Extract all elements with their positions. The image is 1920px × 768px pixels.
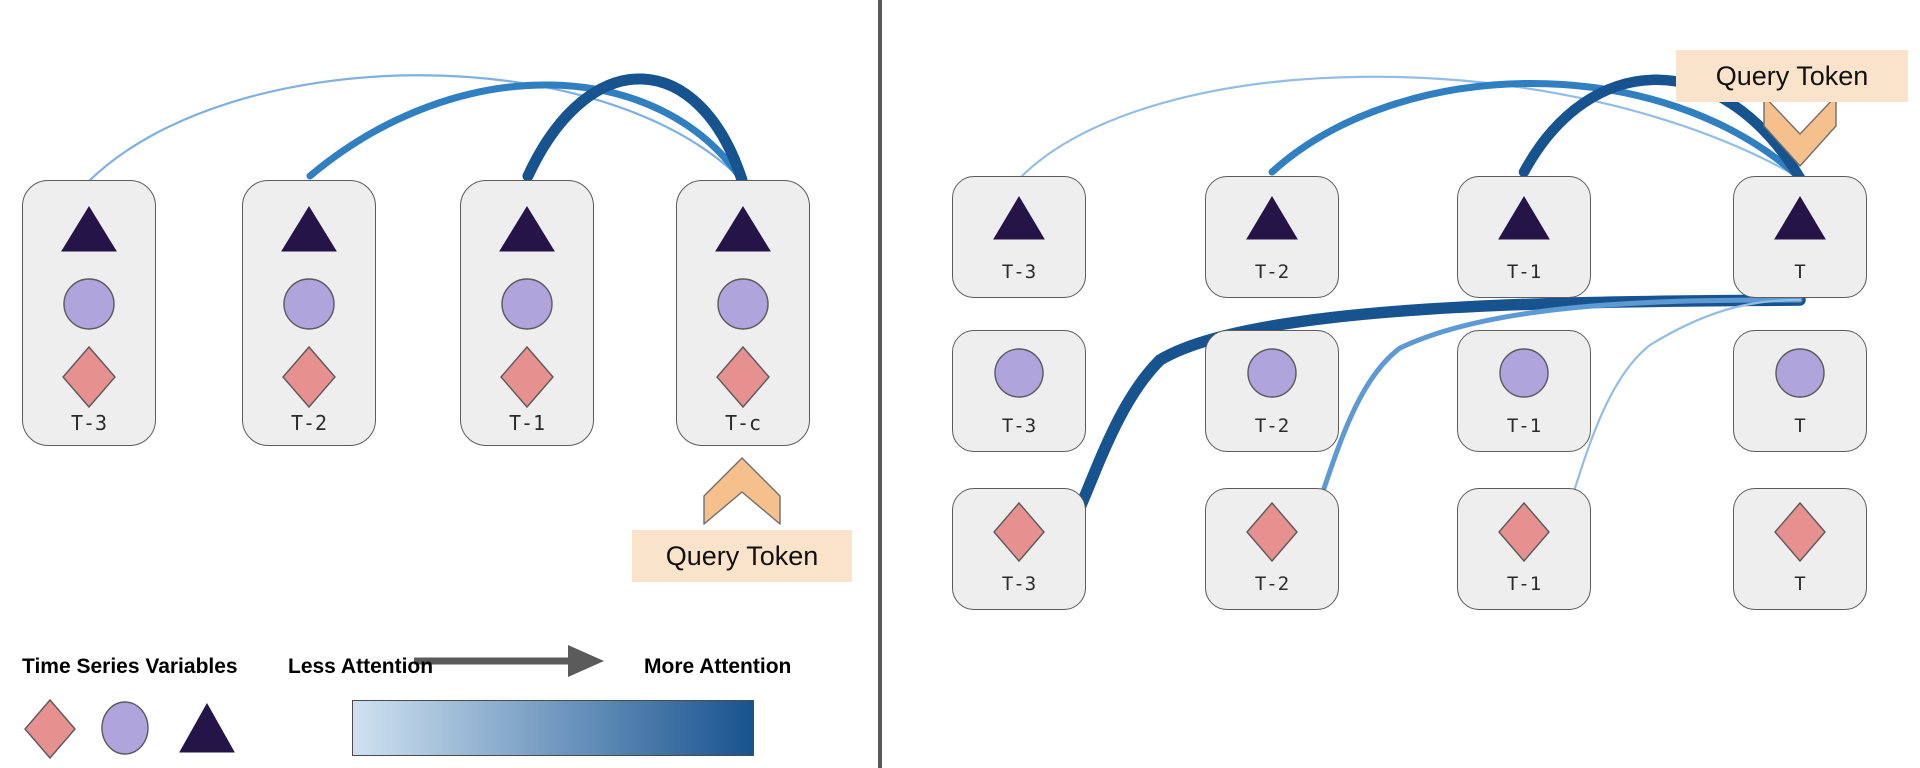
attention-arc-left-t3: [88, 75, 742, 182]
legend-circle-swatch: [100, 700, 150, 761]
token-card-right-r0-c1[interactable]: T-2: [1205, 176, 1339, 298]
token-card-label: T-3: [23, 411, 155, 435]
circle-icon: [1246, 347, 1298, 404]
token-card-label: T-1: [1458, 415, 1590, 437]
token-card-label: T-1: [1458, 573, 1590, 595]
triangle-icon: [498, 205, 556, 258]
token-card-left-1[interactable]: T-2: [242, 180, 376, 446]
query-token-badge-right[interactable]: Query Token: [1676, 50, 1908, 102]
token-card-right-r1-c3[interactable]: T: [1733, 330, 1867, 452]
diamond-icon: [991, 501, 1047, 568]
chevron-down-icon: [1764, 96, 1836, 166]
diamond-icon: [1772, 501, 1828, 568]
diamond-icon: [60, 345, 118, 414]
diamond-icon: [1244, 501, 1300, 568]
token-card-label: T-2: [1206, 261, 1338, 283]
token-card-left-0[interactable]: T-3: [22, 180, 156, 446]
triangle-icon: [1773, 195, 1827, 246]
triangle-icon: [1245, 195, 1299, 246]
circle-icon: [716, 277, 770, 336]
token-card-label: T-c: [677, 411, 809, 435]
token-card-label: T: [1734, 415, 1866, 437]
token-card-right-r1-c1[interactable]: T-2: [1205, 330, 1339, 452]
query-token-label: Query Token: [1716, 61, 1869, 92]
triangle-icon: [60, 205, 118, 258]
legend-less-attention-label: Less Attention: [288, 655, 433, 679]
token-card-label: T-3: [953, 261, 1085, 283]
circle-icon: [1498, 347, 1550, 404]
legend-triangle-swatch: [178, 702, 236, 759]
query-token-label: Query Token: [666, 541, 819, 572]
triangle-icon: [280, 205, 338, 258]
diamond-icon: [714, 345, 772, 414]
circle-icon: [62, 277, 116, 336]
legend-diamond-swatch: [22, 698, 78, 765]
triangle-icon: [992, 195, 1046, 246]
token-card-label: T-2: [1206, 415, 1338, 437]
token-card-right-r0-c2[interactable]: T-1: [1457, 176, 1591, 298]
attention-gradient-bar: [352, 700, 754, 756]
token-card-left-2[interactable]: T-1: [460, 180, 594, 446]
token-card-right-r2-c3[interactable]: T: [1733, 488, 1867, 610]
query-token-badge-left[interactable]: Query Token: [632, 530, 852, 582]
token-card-right-r1-c2[interactable]: T-1: [1457, 330, 1591, 452]
token-card-label: T-2: [1206, 573, 1338, 595]
triangle-icon: [714, 205, 772, 258]
circle-icon: [282, 277, 336, 336]
token-card-right-r0-c3[interactable]: T: [1733, 176, 1867, 298]
token-card-right-r2-c2[interactable]: T-1: [1457, 488, 1591, 610]
token-card-label: T: [1734, 261, 1866, 283]
token-card-label: T-3: [953, 415, 1085, 437]
circle-icon: [1774, 347, 1826, 404]
token-card-right-r2-c0[interactable]: T-3: [952, 488, 1086, 610]
diamond-icon: [498, 345, 556, 414]
token-card-label: T-2: [243, 411, 375, 435]
chevron-up-icon: [704, 458, 780, 524]
attention-arc-left-t1: [528, 79, 742, 180]
attention-arc-right-dia-t3: [1020, 300, 1800, 582]
circle-icon: [500, 277, 554, 336]
token-card-right-r0-c0[interactable]: T-3: [952, 176, 1086, 298]
figure-root: T-3 T-2 T-1: [0, 0, 1920, 768]
token-card-label: T-1: [1458, 261, 1590, 283]
attention-arc-left-t2: [310, 85, 742, 180]
diamond-icon: [280, 345, 338, 414]
legend-variables-title: Time Series Variables: [22, 655, 238, 679]
token-card-left-3[interactable]: T-c: [676, 180, 810, 446]
arrow-right-icon: [414, 645, 604, 677]
triangle-icon: [1497, 195, 1551, 246]
panel-divider: [878, 0, 882, 768]
diamond-icon: [1496, 501, 1552, 568]
token-card-label: T-3: [953, 573, 1085, 595]
legend-more-attention-label: More Attention: [644, 655, 791, 679]
circle-icon: [993, 347, 1045, 404]
token-card-right-r1-c0[interactable]: T-3: [952, 330, 1086, 452]
token-card-label: T-1: [461, 411, 593, 435]
token-card-label: T: [1734, 573, 1866, 595]
token-card-right-r2-c1[interactable]: T-2: [1205, 488, 1339, 610]
